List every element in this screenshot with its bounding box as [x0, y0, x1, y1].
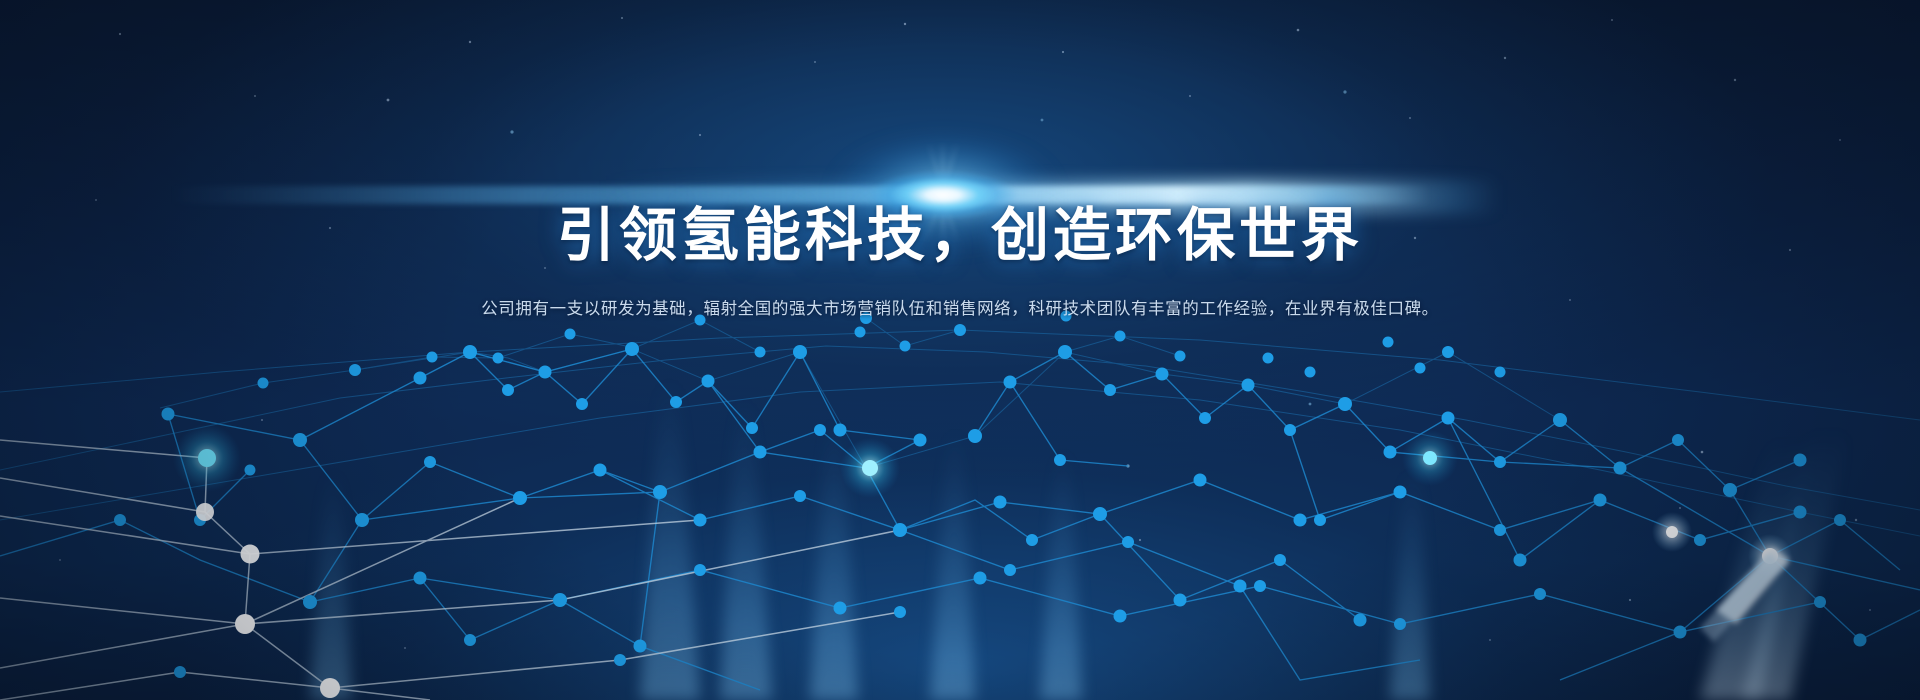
background-vignette: [0, 0, 1920, 700]
hero-banner: 引领氢能科技，创造环保世界 公司拥有一支以研发为基础，辐射全国的强大市场营销队伍…: [0, 0, 1920, 700]
